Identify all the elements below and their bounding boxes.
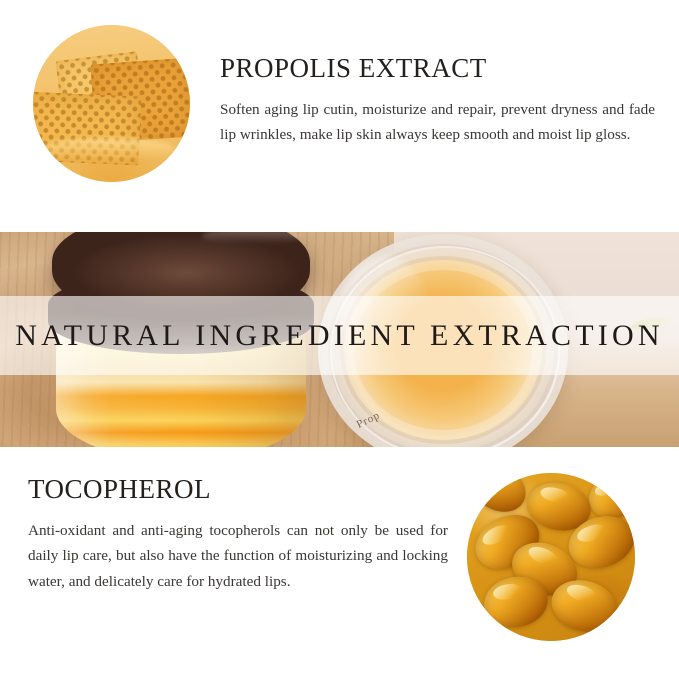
propolis-heading: PROPOLIS EXTRACT: [220, 54, 655, 84]
propolis-body-text: Soften aging lip cutin, moisturize and r…: [220, 97, 655, 148]
propolis-text-block: PROPOLIS EXTRACT Soften aging lip cutin,…: [220, 54, 655, 148]
tocopherol-heading: TOCOPHEROL: [28, 475, 448, 505]
tocopherol-body-text: Anti-oxidant and anti-aging tocopherols …: [28, 518, 448, 595]
tocopherol-section: TOCOPHEROL Anti-oxidant and anti-aging t…: [0, 447, 679, 679]
propolis-section: PROPOLIS EXTRACT Soften aging lip cutin,…: [0, 0, 679, 232]
honey-gloss-highlight: [42, 138, 174, 163]
jar-lid-highlight: [202, 232, 302, 244]
softgel-capsules-photo: [467, 473, 635, 641]
tocopherol-text-block: TOCOPHEROL Anti-oxidant and anti-aging t…: [28, 475, 448, 594]
honeycomb-photo: [33, 25, 190, 182]
natural-ingredient-banner: Prop NATURAL INGREDIENT EXTRACTION: [0, 232, 679, 447]
banner-overlay-band: NATURAL INGREDIENT EXTRACTION: [0, 296, 679, 375]
banner-title: NATURAL INGREDIENT EXTRACTION: [15, 319, 663, 353]
